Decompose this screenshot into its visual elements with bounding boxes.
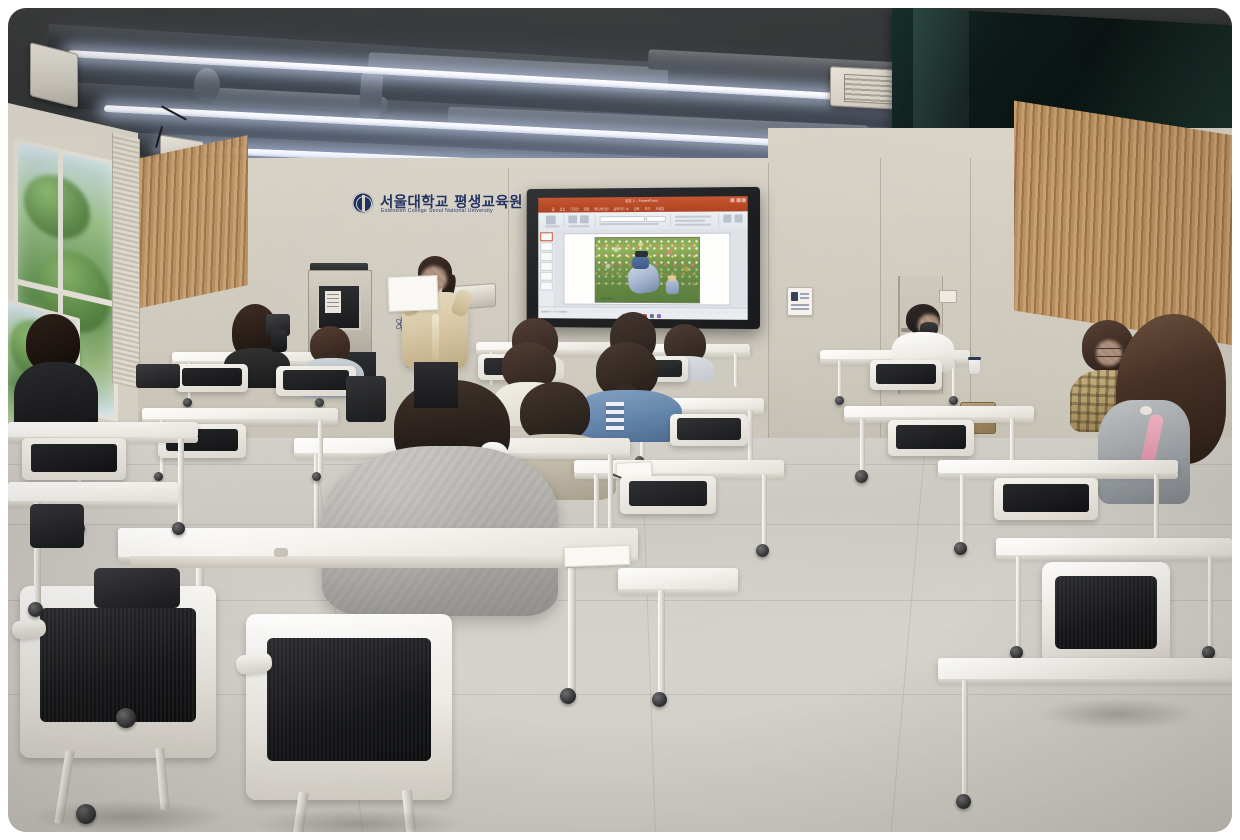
wall-display-screen[interactable]: 발표 1 - PowerPoint 홈 삽입 디자인 전환 애니메이션 슬라이드… bbox=[527, 187, 760, 329]
backpack bbox=[30, 504, 84, 548]
desk bbox=[996, 538, 1232, 556]
camera-lens bbox=[271, 330, 287, 352]
ribbon-group-slides[interactable] bbox=[565, 214, 595, 227]
slide-thumbnail[interactable] bbox=[540, 232, 553, 241]
window-controls[interactable] bbox=[730, 198, 745, 202]
desk bbox=[938, 658, 1232, 680]
ribbon-group-paragraph[interactable] bbox=[672, 214, 719, 227]
tab-home[interactable]: 홈 bbox=[552, 207, 555, 212]
chair-foreground-left[interactable] bbox=[20, 586, 216, 758]
desk bbox=[118, 528, 638, 558]
wall-panel-seam bbox=[768, 163, 769, 463]
desk bbox=[844, 406, 1034, 418]
student-window-black-tee bbox=[18, 314, 104, 434]
desk-modesty-panel bbox=[130, 556, 590, 568]
desk bbox=[142, 408, 338, 420]
chair-back[interactable] bbox=[870, 360, 942, 390]
chair-back[interactable] bbox=[620, 476, 716, 514]
logo-english-text: Extension College Seoul National Univers… bbox=[381, 208, 493, 214]
powerpoint-title-text: 발표 1 - PowerPoint bbox=[625, 197, 658, 202]
tab-help[interactable]: 도움말 bbox=[655, 206, 664, 211]
display-screen-content: 발표 1 - PowerPoint 홈 삽입 디자인 전환 애니메이션 슬라이드… bbox=[538, 196, 747, 320]
snu-emblem-icon bbox=[352, 192, 374, 214]
current-slide[interactable]: Claude Monet bbox=[563, 233, 730, 306]
wooden-slat-panel bbox=[1014, 101, 1232, 346]
desk bbox=[938, 460, 1178, 474]
desk bbox=[8, 422, 198, 438]
blouse-tie bbox=[432, 314, 439, 360]
slide-thumbnail[interactable] bbox=[540, 252, 553, 261]
duct-elbow bbox=[194, 68, 220, 102]
wifi-notice-sign bbox=[787, 287, 813, 316]
chair[interactable] bbox=[1042, 562, 1170, 672]
desk bbox=[574, 460, 784, 474]
ribbon-group-font[interactable] bbox=[597, 214, 671, 227]
powerpoint-ribbon[interactable] bbox=[538, 211, 747, 230]
chair-back[interactable] bbox=[888, 420, 974, 456]
chair-foreground-centre[interactable] bbox=[246, 614, 452, 800]
slide-thumbnail-pane[interactable] bbox=[538, 229, 554, 307]
confidence-monitor[interactable] bbox=[317, 284, 361, 330]
tab-view[interactable]: 보기 bbox=[645, 206, 651, 211]
desk bbox=[8, 482, 178, 502]
ribbon-group-editing[interactable] bbox=[720, 213, 747, 226]
instructor-trousers bbox=[414, 362, 458, 408]
ribbon-group-clipboard[interactable] bbox=[542, 214, 564, 227]
handbag bbox=[346, 376, 386, 422]
university-logo: 서울대학교 평생교육원 Extension College Seoul Nati… bbox=[352, 189, 504, 219]
desk bbox=[618, 568, 738, 590]
chair-back[interactable] bbox=[994, 478, 1098, 520]
wall-speaker bbox=[30, 42, 78, 108]
slide-canvas[interactable]: Claude Monet bbox=[554, 229, 748, 309]
slide-thumbnail[interactable] bbox=[540, 262, 553, 271]
slide-thumbnail[interactable] bbox=[540, 282, 553, 291]
coffee-cup bbox=[968, 358, 981, 375]
slide-thumbnail[interactable] bbox=[540, 242, 553, 251]
door-room-plate bbox=[939, 290, 957, 303]
chair-back[interactable] bbox=[176, 364, 248, 392]
chair-back[interactable] bbox=[276, 366, 356, 396]
painting-signature: Claude Monet bbox=[601, 297, 614, 300]
tab-insert[interactable]: 삽입 bbox=[559, 207, 565, 212]
student-right-back bbox=[888, 308, 958, 368]
chair-back[interactable] bbox=[22, 438, 126, 480]
tab-animations[interactable]: 애니메이션 bbox=[594, 206, 608, 211]
slide-thumbnail[interactable] bbox=[540, 272, 553, 281]
tab-transitions[interactable]: 전환 bbox=[584, 206, 590, 211]
slide-painting-image: Claude Monet bbox=[595, 237, 700, 304]
chair-back[interactable] bbox=[670, 414, 748, 446]
instructor-held-paper bbox=[387, 275, 438, 312]
paper-sheet bbox=[564, 545, 631, 567]
photo-frame: 서울대학교 평생교육원 Extension College Seoul Nati… bbox=[0, 0, 1240, 840]
tab-slideshow[interactable]: 슬라이드 쇼 bbox=[613, 206, 628, 211]
backpack bbox=[94, 568, 180, 608]
classroom-photograph: 서울대학교 평생교육원 Extension College Seoul Nati… bbox=[8, 8, 1232, 832]
desk-clip bbox=[274, 548, 288, 557]
duct-drop bbox=[358, 71, 383, 118]
tab-design[interactable]: 디자인 bbox=[570, 206, 579, 211]
strap-clip bbox=[1140, 406, 1152, 415]
window-blind[interactable] bbox=[112, 133, 140, 389]
handbag bbox=[136, 364, 180, 388]
tab-review[interactable]: 검토 bbox=[634, 206, 640, 211]
